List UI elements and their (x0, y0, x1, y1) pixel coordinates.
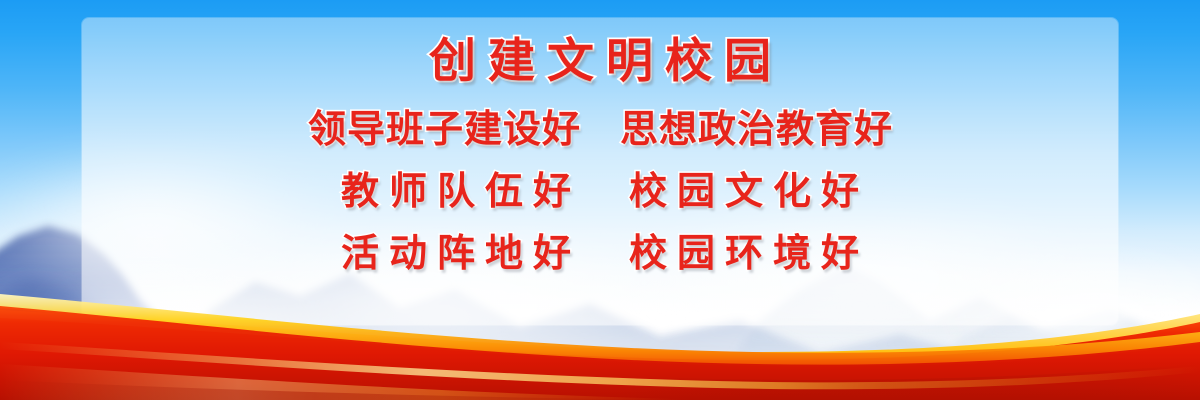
banner-root: 创建文明校园 领导班子建设好 思想政治教育好 教师队伍好 校园文化好 活动阵地好… (0, 0, 1200, 400)
red-gold-ribbon (0, 280, 1200, 400)
slogan-line-1: 领导班子建设好 思想政治教育好 (0, 98, 1200, 160)
slogan-line-3: 活动阵地好 校园环境好 (0, 222, 1200, 284)
slogan-text-block: 创建文明校园 领导班子建设好 思想政治教育好 教师队伍好 校园文化好 活动阵地好… (0, 32, 1200, 284)
slogan-line-2: 教师队伍好 校园文化好 (0, 160, 1200, 222)
banner-title: 创建文明校园 (0, 32, 1200, 92)
